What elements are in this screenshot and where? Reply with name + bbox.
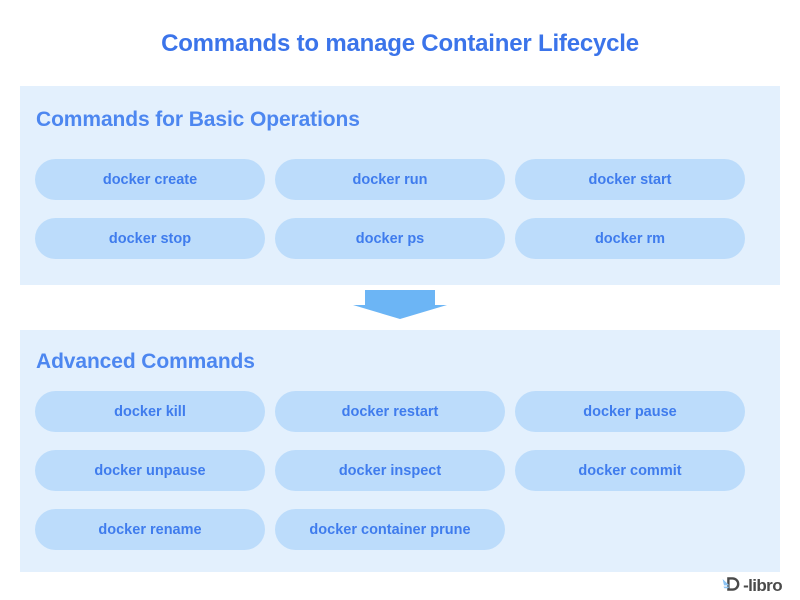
command-row: docker rename docker container prune <box>35 509 765 550</box>
command-pill-docker-pause[interactable]: docker pause <box>515 391 745 432</box>
section-heading-basic-operations: Commands for Basic Operations <box>36 108 360 132</box>
logo-wordmark: -libro <box>743 577 782 594</box>
command-pill-docker-inspect[interactable]: docker inspect <box>275 450 505 491</box>
command-pill-docker-stop[interactable]: docker stop <box>35 218 265 259</box>
section-advanced-commands: Advanced Commands docker kill docker res… <box>20 330 780 572</box>
command-pill-docker-ps[interactable]: docker ps <box>275 218 505 259</box>
command-pill-docker-rm[interactable]: docker rm <box>515 218 745 259</box>
section-basic-operations: Commands for Basic Operations docker cre… <box>20 86 780 285</box>
command-row: docker stop docker ps docker rm <box>35 218 765 259</box>
command-row: docker unpause docker inspect docker com… <box>35 450 765 491</box>
section-heading-advanced-commands: Advanced Commands <box>36 350 255 374</box>
d-libro-logo-icon <box>722 574 742 594</box>
arrow-down-icon <box>353 290 447 319</box>
command-row: docker kill docker restart docker pause <box>35 391 765 432</box>
command-pill-docker-container-prune[interactable]: docker container prune <box>275 509 505 550</box>
command-pill-docker-create[interactable]: docker create <box>35 159 265 200</box>
command-pill-docker-commit[interactable]: docker commit <box>515 450 745 491</box>
command-pill-docker-start[interactable]: docker start <box>515 159 745 200</box>
command-pill-docker-kill[interactable]: docker kill <box>35 391 265 432</box>
command-row: docker create docker run docker start <box>35 159 765 200</box>
command-pill-docker-run[interactable]: docker run <box>275 159 505 200</box>
command-pill-docker-unpause[interactable]: docker unpause <box>35 450 265 491</box>
page-title: Commands to manage Container Lifecycle <box>0 30 800 58</box>
command-pill-docker-restart[interactable]: docker restart <box>275 391 505 432</box>
footer-logo: -libro <box>722 574 782 594</box>
command-pill-docker-rename[interactable]: docker rename <box>35 509 265 550</box>
